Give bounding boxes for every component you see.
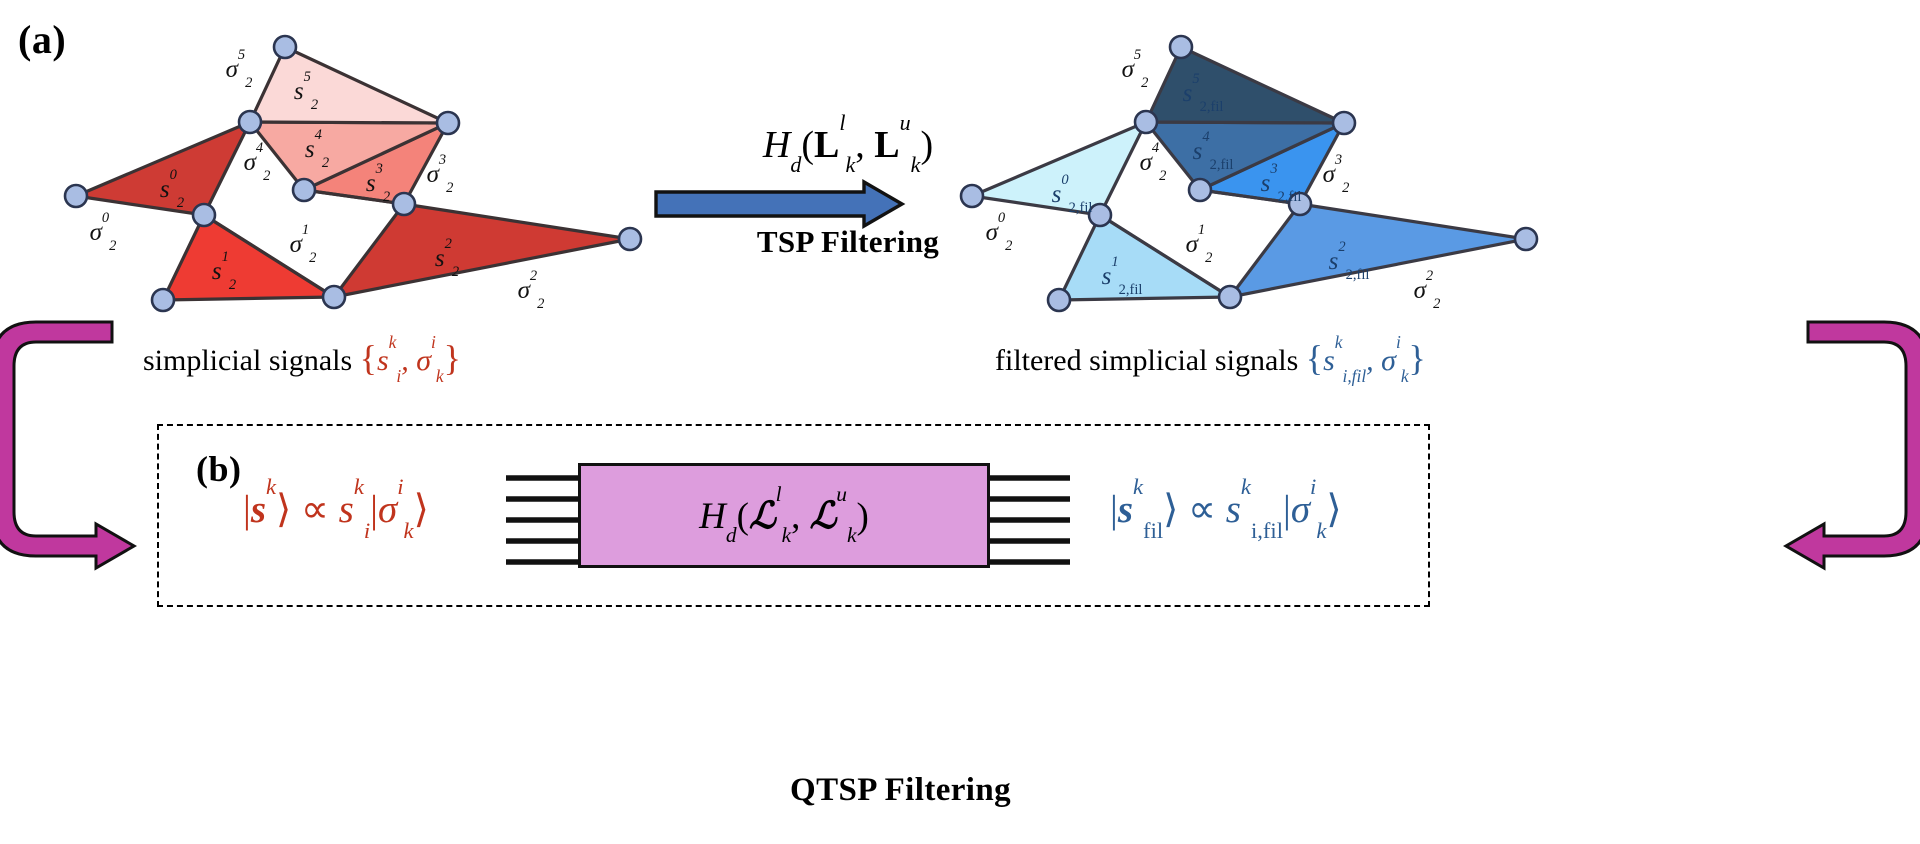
vertex — [619, 228, 641, 250]
caption-left-text: simplicial signals — [143, 344, 352, 377]
tsp-operator-formula: Hd(Llk, Luk) — [763, 126, 933, 164]
edge-label-sigma23: σ32 — [427, 161, 454, 189]
face-label-s25: s52 — [294, 78, 318, 106]
vertex — [437, 112, 459, 134]
face-label-s22: s22 — [435, 245, 459, 273]
face-s24 — [250, 122, 448, 190]
vertex — [393, 193, 415, 215]
edge-label-sigma25-r: σ52 — [1122, 56, 1149, 84]
diagram-svg — [0, 0, 1920, 844]
face-label-s25fil: s52,fil — [1183, 80, 1224, 108]
right-simplicial-complex — [961, 36, 1537, 311]
face-label-s24: s42 — [305, 136, 329, 164]
edge-label-sigma20: σ02 — [90, 219, 117, 247]
vertex — [1135, 111, 1157, 133]
vertex — [193, 204, 215, 226]
face-s22fil — [1230, 204, 1526, 297]
vertex — [1189, 179, 1211, 201]
face-label-s22fil: s22,fil — [1329, 248, 1370, 276]
qtsp-filtering-label: QTSP Filtering — [790, 772, 1011, 809]
face-s24fil — [1146, 122, 1344, 190]
left-simplicial-complex — [65, 36, 641, 311]
right-feedback-arrow — [1786, 322, 1920, 568]
vertex — [152, 289, 174, 311]
vertex — [1515, 228, 1537, 250]
vertex — [1170, 36, 1192, 58]
edge-label-sigma23-r: σ32 — [1323, 161, 1350, 189]
vertex — [293, 179, 315, 201]
edge-label-sigma24-r: σ42 — [1140, 149, 1167, 177]
edge-label-sigma21-r: σ12 — [1186, 231, 1213, 259]
output-state-expression: |skfil⟩ ∝ ski,fil|σik⟩ — [1110, 490, 1342, 529]
edge-label-sigma22-r: σ22 — [1414, 277, 1441, 305]
vertex — [323, 286, 345, 308]
right-complex-caption: filtered simplicial signals {ski,fil, σi… — [995, 337, 1426, 379]
vertex — [1333, 112, 1355, 134]
left-complex-caption: simplicial signals {ski, σik} — [143, 337, 461, 379]
face-label-s21: s12 — [212, 258, 236, 286]
vertex — [239, 111, 261, 133]
vertex — [961, 185, 983, 207]
gate-formula: Hd(ℒlk, ℒuk) — [699, 494, 869, 538]
tsp-filtering-label: TSP Filtering — [757, 226, 939, 257]
edge-label-sigma20-r: σ02 — [986, 219, 1013, 247]
vertex — [65, 185, 87, 207]
left-feedback-arrow — [0, 322, 134, 568]
face-label-s23: s32 — [366, 170, 390, 198]
face-s22 — [334, 204, 630, 297]
face-label-s21fil: s12,fil — [1102, 263, 1143, 291]
edge-label-sigma24: σ42 — [244, 149, 271, 177]
edge-label-sigma25: σ52 — [226, 56, 253, 84]
quantum-filter-gate[interactable]: Hd(ℒlk, ℒuk) — [578, 463, 990, 568]
face-label-s20fil: s02,fil — [1052, 181, 1093, 209]
face-s25 — [250, 47, 448, 123]
vertex — [1048, 289, 1070, 311]
face-label-s23fil: s32,fil — [1261, 170, 1302, 198]
vertex — [274, 36, 296, 58]
panel-a-label: (a) — [18, 16, 66, 63]
face-label-s24fil: s42,fil — [1193, 138, 1234, 166]
panel-b-label: (b) — [196, 448, 242, 490]
face-label-s20: s02 — [160, 176, 184, 204]
edge-label-sigma22: σ22 — [518, 277, 545, 305]
face-s25fil — [1146, 47, 1344, 123]
edge-label-sigma21: σ12 — [290, 231, 317, 259]
tsp-filter-arrow — [656, 182, 902, 226]
input-state-expression: |sk⟩ ∝ ski|σik⟩ — [243, 490, 429, 529]
vertex — [1219, 286, 1241, 308]
caption-right-text: filtered simplicial signals — [995, 344, 1298, 377]
figure-canvas: (a) s02 s12 s22 s32 s42 s52 σ02 σ12 σ22 … — [0, 0, 1920, 844]
